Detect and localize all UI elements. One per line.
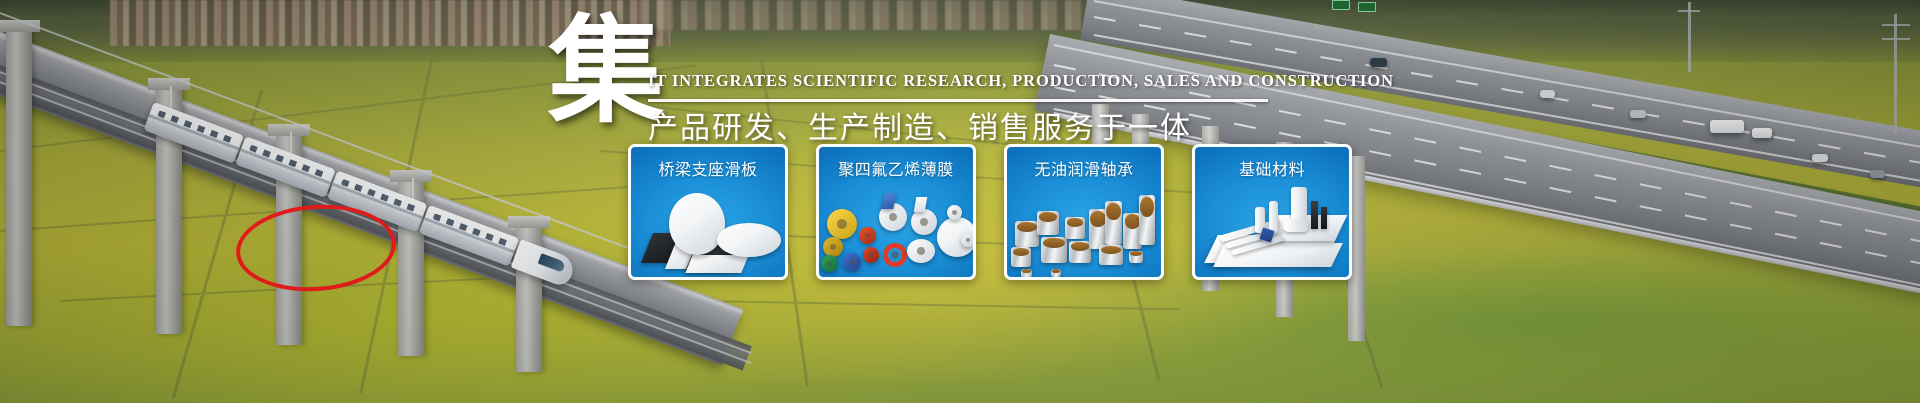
product-image-bridge-bearing-slide-plate <box>631 181 785 277</box>
headline-block: 集 IT INTEGRATES SCIENTIFIC RESEARCH, PRO… <box>548 14 1408 134</box>
product-card-oil-free-bearing[interactable]: 无油润滑轴承 <box>1004 144 1164 280</box>
product-card-label: 无油润滑轴承 <box>1007 156 1161 180</box>
product-card-ptfe-film[interactable]: 聚四氟乙烯薄膜 <box>816 144 976 280</box>
headline-divider <box>648 99 1268 102</box>
vehicle-car <box>1812 154 1828 162</box>
product-card-label: 聚四氟乙烯薄膜 <box>819 156 973 180</box>
product-card-list: 桥梁支座滑板 聚四氟乙烯薄膜 <box>628 144 1352 280</box>
vehicle-car <box>1630 110 1646 118</box>
headline-big-character: 集 <box>548 14 664 130</box>
product-card-label: 桥梁支座滑板 <box>631 156 785 180</box>
vehicle-car <box>1540 90 1555 98</box>
vehicle-car <box>1870 170 1885 178</box>
highway-sign <box>1358 2 1376 12</box>
product-image-oil-free-bearing <box>1007 181 1161 277</box>
product-card-base-materials[interactable]: 基础材料 <box>1192 144 1352 280</box>
vehicle-bus <box>1710 120 1744 133</box>
vehicle-bus <box>1752 128 1772 138</box>
product-card-label: 基础材料 <box>1195 156 1349 180</box>
product-image-ptfe-film <box>819 181 973 277</box>
tagline-english: IT INTEGRATES SCIENTIFIC RESEARCH, PRODU… <box>648 71 1394 91</box>
tagline-chinese: 产品研发、生产制造、销售服务于一体 <box>648 103 1192 147</box>
highway-sign <box>1332 0 1350 10</box>
product-card-bridge-bearing-slide-plate[interactable]: 桥梁支座滑板 <box>628 144 788 280</box>
hero-banner: 集 IT INTEGRATES SCIENTIFIC RESEARCH, PRO… <box>0 0 1920 403</box>
product-image-base-materials <box>1195 181 1349 277</box>
